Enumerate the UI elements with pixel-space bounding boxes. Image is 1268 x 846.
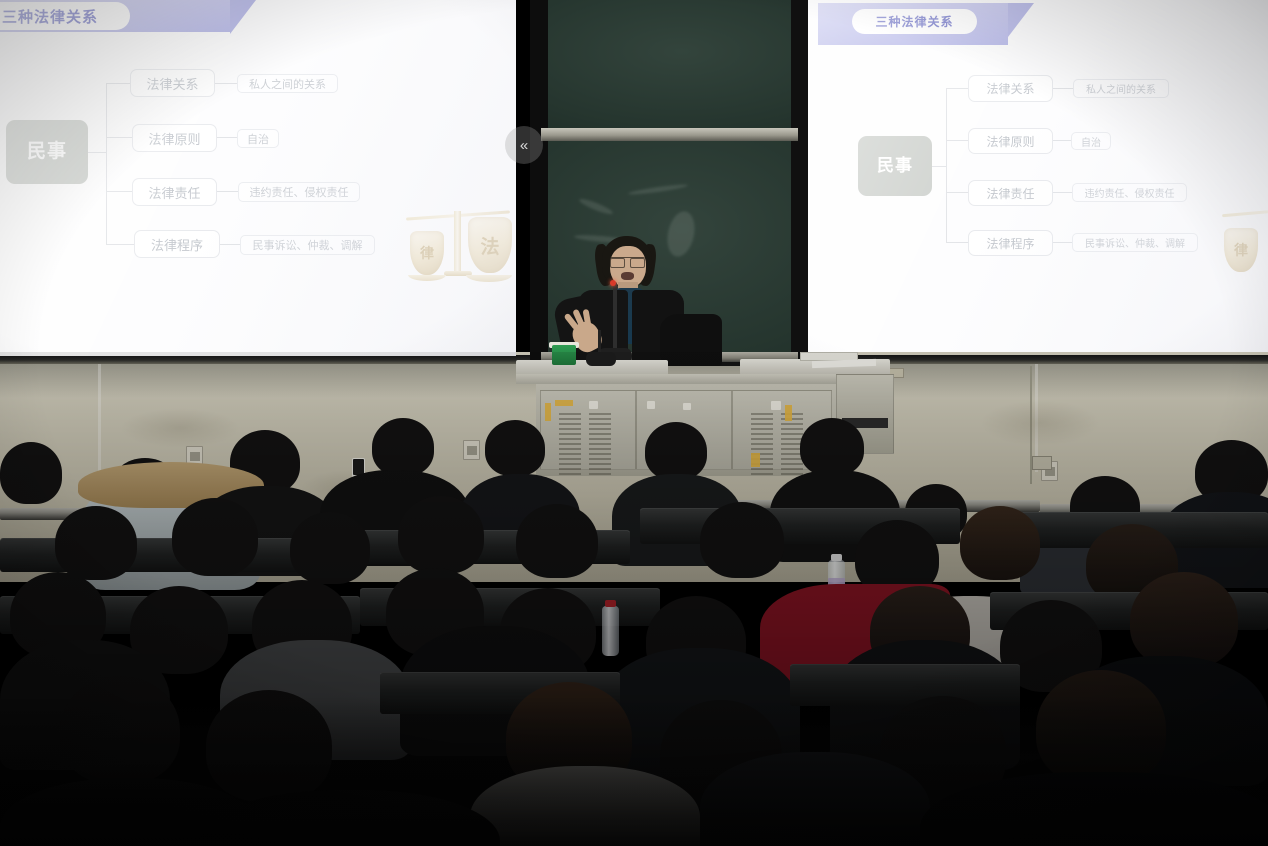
student-head [55,506,137,580]
mindmap-node: 法律原则 [132,124,217,152]
mindmap-connector [946,192,968,193]
mindmap-root-label: 民事 [27,142,67,162]
slide-title-text: 三种法律关系 [875,13,953,30]
mindmap-node: 法律程序 [968,230,1053,256]
right-projection-screen: 三种法律关系 民事 法律关系 私人之间的关系 法律原则 自治 [800,0,1268,352]
mindmap-root-node: 民事 [858,136,932,196]
mouth [621,272,634,280]
mindmap-root-label: 民事 [877,157,913,175]
cabinet-vent [559,413,581,478]
mindmap-connector [1053,140,1071,141]
mindmap-connector [217,191,238,192]
wall-junction-box [1032,456,1052,470]
tape-marker [785,405,792,421]
lecture-hall-scene: 三种法律关系 民事 法律关系 私人之间的关系 法律原则 [0,0,1268,846]
wall-smudge [120,408,240,448]
mindmap-node: 法律责任 [132,178,217,206]
cabinet-sticker [589,401,598,409]
mindmap-connector [946,140,968,141]
chalkboard-upper-panel [548,0,791,129]
slide-title-pill: 三种法律关系 [852,9,977,34]
chalk-mark [628,183,688,196]
mindmap-leaf: 违约责任、侵权责任 [238,182,360,202]
mindmap-connector [932,166,946,167]
green-box [552,345,576,365]
justice-scales-emblem: 律 法 [1218,200,1268,280]
mindmap-leaf: 民事诉讼、仲裁、调解 [240,235,375,255]
mindmap-connector [1053,192,1072,193]
student-head [516,504,598,578]
student-head [398,496,484,574]
mindmap-leaf: 私人之间的关系 [237,74,338,93]
student-head [645,422,707,480]
scale-post [454,211,461,273]
student-head [800,418,864,476]
slide-canvas: 三种法律关系 民事 法律关系 私人之间的关系 法律原则 [0,0,516,356]
mindmap-connector [106,137,132,138]
student-head [0,442,62,504]
student-head [206,690,332,802]
left-projection-screen: 三种法律关系 民事 法律关系 私人之间的关系 法律原则 [0,0,516,356]
student-head [700,502,784,578]
mindmap-leaf: 私人之间的关系 [1073,79,1169,98]
mindmap-node: 法律责任 [968,180,1053,206]
mindmap-leaf: 违约责任、侵权责任 [1072,183,1187,202]
draped-coat [660,314,722,366]
mindmap-connector [106,244,134,245]
cabinet-sticker [683,403,691,410]
student-head [372,418,434,476]
cabinet-sticker [647,401,655,409]
mindmap-connector [106,191,132,192]
microphone-indicator-light [610,280,616,286]
chalk-mark [578,197,614,217]
student-head [290,512,370,584]
mindmap-leaf: 自治 [1071,132,1111,150]
student-head [1036,670,1166,786]
bottle-cap-red [605,600,616,607]
mindmap-connector [88,152,106,153]
student-head [1130,572,1238,668]
water-bottle [602,606,619,656]
mindmap-connector [946,88,968,89]
wall-smudge [980,400,1100,446]
mindmap-connector [1053,242,1072,243]
podium-surface-front [516,374,836,384]
desk-microphone-arm [598,330,601,354]
wall-power-outlet [463,440,480,460]
mindmap-connector [217,137,237,138]
mindmap-root-node: 民事 [6,120,88,184]
tape-marker [555,400,573,406]
mindmap-node: 法律关系 [130,69,215,97]
desk-microphone [586,352,616,366]
justice-scales-emblem: 律 法 [400,205,516,287]
cabinet-vent [589,413,611,478]
shield-left-icon: 律 [1224,228,1258,272]
scale-pan-left [408,275,446,281]
shield-right-icon: 法 [468,217,512,273]
scale-pan-right [466,275,512,282]
mindmap-node: 法律原则 [968,128,1053,154]
chalkboard-right-edge [790,0,808,366]
mindmap-node: 法律关系 [968,75,1053,102]
tape-marker [751,453,760,467]
mindmap-connector [1053,88,1073,89]
shield-left-icon: 律 [410,231,444,275]
collapse-panel-button[interactable]: « [505,126,543,164]
slide-title-pill: 三种法律关系 [0,2,130,30]
hoodie [700,752,930,846]
student-head [60,676,180,784]
glasses [610,257,645,265]
slide-canvas: 三种法律关系 民事 法律关系 私人之间的关系 法律原则 自治 [800,0,1268,352]
mindmap-node: 法律程序 [134,230,220,258]
tape-marker [545,403,551,421]
cabinet-sticker [771,401,781,410]
mindmap-connector [106,83,130,84]
wall-seam [98,364,101,484]
mindmap-connector [946,242,968,243]
microphone-cable [613,282,617,354]
mindmap-leaf: 自治 [237,129,279,148]
mindmap-trunk [106,83,107,245]
cabinet-door[interactable] [540,390,636,470]
seat-back [790,664,1020,706]
chalkboard-chalk-rail [541,128,798,141]
student-head [172,498,258,576]
student-head [960,506,1040,580]
mindmap-trunk [946,88,947,242]
mindmap-connector [215,83,237,84]
slide-title-text: 三种法律关系 [2,6,98,27]
chevron-left-double-icon: « [520,138,528,153]
scale-beam [1222,206,1268,218]
mindmap-leaf: 民事诉讼、仲裁、调解 [1072,233,1198,252]
bottle-cap [831,554,842,561]
student-head [485,420,545,476]
cabinet-vent [751,413,773,478]
mindmap-connector [220,244,240,245]
